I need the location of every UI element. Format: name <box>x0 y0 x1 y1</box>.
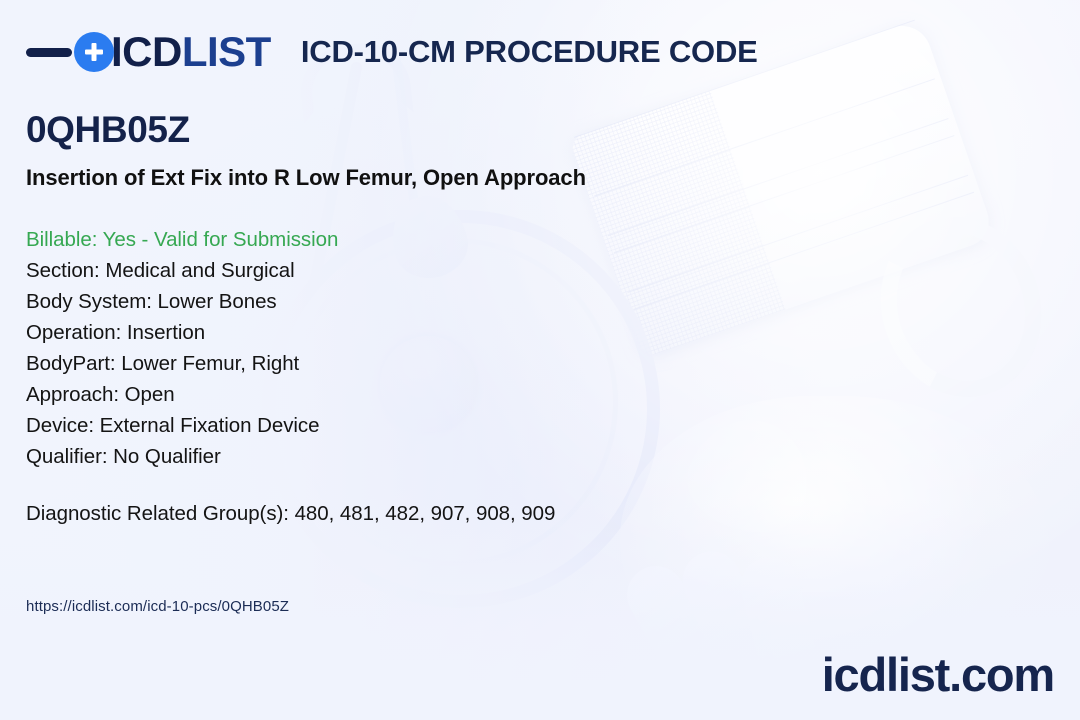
icdlist-logo[interactable]: ICD LIST <box>26 24 271 80</box>
page-title: ICD-10-CM PROCEDURE CODE <box>301 34 758 70</box>
card-content: ICD LIST ICD-10-CM PROCEDURE CODE 0QHB05… <box>0 0 1080 720</box>
procedure-code: 0QHB05Z <box>26 110 190 151</box>
diagnostic-related-groups: Diagnostic Related Group(s): 480, 481, 4… <box>26 502 555 526</box>
plus-circle-icon <box>74 32 114 72</box>
detail-body-system: Body System: Lower Bones <box>26 286 338 317</box>
procedure-description: Insertion of Ext Fix into R Low Femur, O… <box>26 165 586 191</box>
detail-qualifier: Qualifier: No Qualifier <box>26 441 338 472</box>
site-watermark: icdlist.com <box>822 651 1054 698</box>
dash-icon <box>26 48 72 57</box>
detail-body-part: BodyPart: Lower Femur, Right <box>26 348 338 379</box>
detail-billable: Billable: Yes - Valid for Submission <box>26 224 338 255</box>
detail-approach: Approach: Open <box>26 379 338 410</box>
header: ICD LIST ICD-10-CM PROCEDURE CODE <box>26 24 758 80</box>
detail-section: Section: Medical and Surgical <box>26 255 338 286</box>
detail-list: Billable: Yes - Valid for Submission Sec… <box>26 224 338 472</box>
logo-text-icd: ICD <box>111 31 182 73</box>
source-url[interactable]: https://icdlist.com/icd-10-pcs/0QHB05Z <box>26 598 289 615</box>
detail-device: Device: External Fixation Device <box>26 410 338 441</box>
detail-operation: Operation: Insertion <box>26 317 338 348</box>
procedure-code-card: ICD LIST ICD-10-CM PROCEDURE CODE 0QHB05… <box>0 0 1080 720</box>
logo-text-list: LIST <box>182 31 271 73</box>
